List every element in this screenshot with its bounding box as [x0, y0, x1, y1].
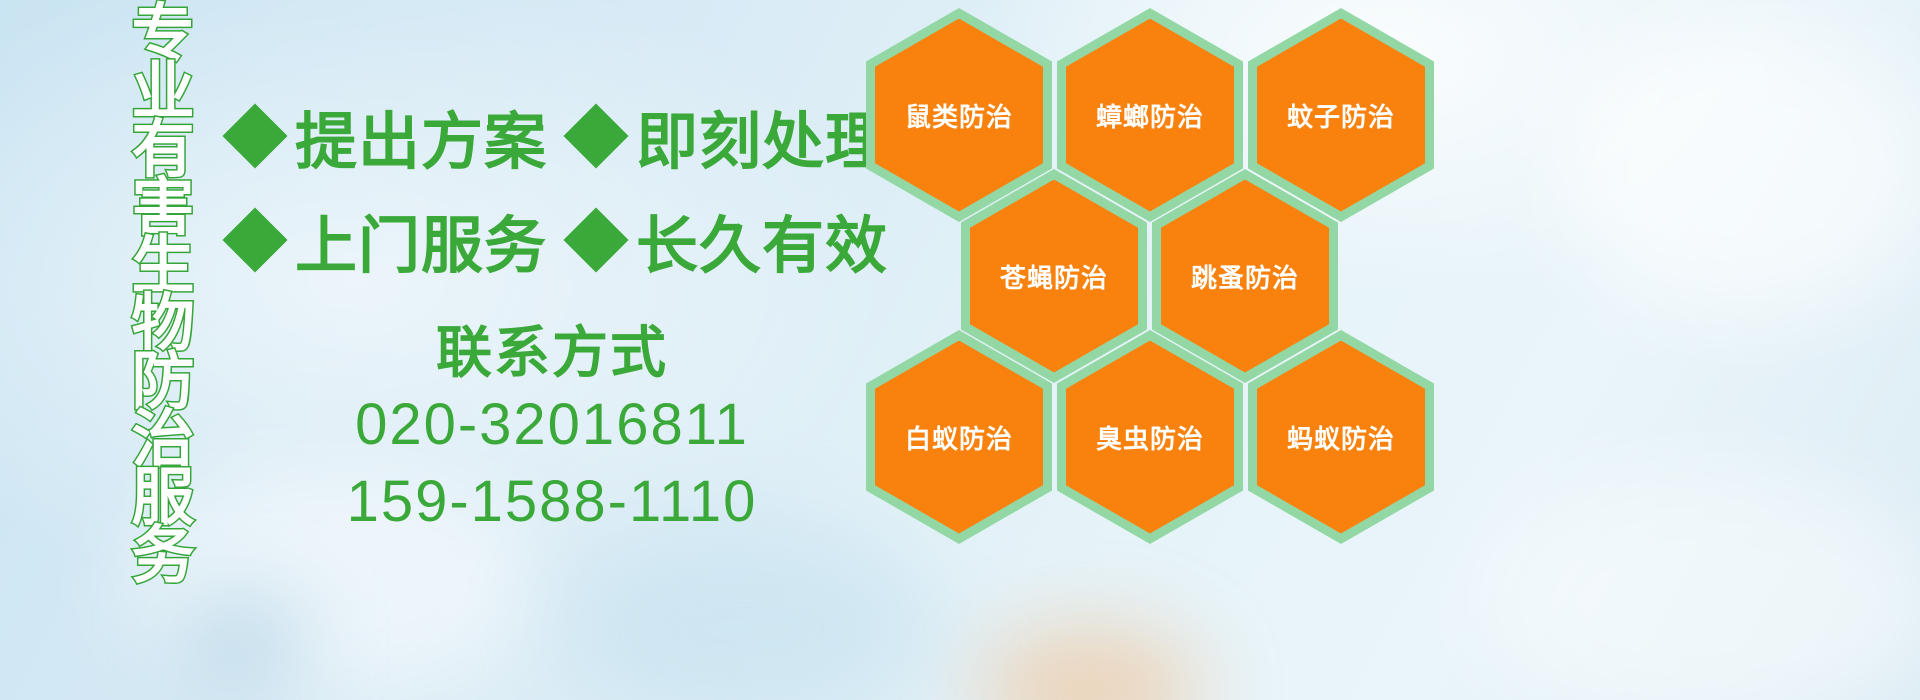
vertical-headline-char: 有 — [132, 122, 195, 180]
vertical-headline-char: 治 — [132, 412, 195, 470]
service-hex-inner: 跳蚤防治 — [1161, 180, 1329, 373]
contact-phone-landline[interactable]: 020-32016811 — [232, 386, 872, 463]
feature-item: 提出方案 — [232, 91, 547, 181]
vertical-headline-char: 业 — [132, 64, 195, 122]
diamond-bullet-icon — [563, 207, 628, 272]
service-hex-label: 蚊子防治 — [1287, 97, 1395, 134]
vertical-headline-char: 防 — [132, 354, 195, 412]
feature-item: 长久有效 — [573, 195, 888, 285]
service-hex-inner: 苍蝇防治 — [970, 180, 1138, 373]
vertical-headline-char: 专 — [132, 6, 195, 64]
feature-item: 即刻处理 — [573, 91, 888, 181]
feature-label: 即刻处理 — [636, 91, 888, 181]
service-hex-label: 苍蝇防治 — [1000, 258, 1108, 295]
service-hex-label: 跳蚤防治 — [1191, 258, 1299, 295]
service-hex-inner: 白蚁防治 — [875, 341, 1043, 534]
service-honeycomb: 鼠类防治 蟑螂防治 蚊子防治 苍蝇防治 跳蚤防治 白蚁防 — [860, 0, 1460, 560]
feature-label: 上门服务 — [295, 195, 547, 285]
service-hex-label: 蚂蚁防治 — [1287, 419, 1395, 456]
vertical-headline-char: 生 — [132, 238, 195, 296]
vertical-headline-char: 服 — [132, 470, 195, 528]
background-orange-haze — [980, 630, 1200, 700]
background-speck-left — [180, 600, 300, 690]
feature-list: 提出方案 即刻处理 上门服务 长久有效 — [232, 84, 872, 292]
diamond-bullet-icon — [222, 207, 287, 272]
service-hex-inner: 鼠类防治 — [875, 19, 1043, 212]
background-glow-top-right — [1560, 20, 1920, 320]
vertical-headline-char: 物 — [132, 296, 195, 354]
contact-block: 联系方式 020-32016811 159-1588-1110 — [232, 320, 872, 540]
contact-title: 联系方式 — [232, 320, 872, 386]
vertical-headline: 专 业 有 害 生 物 防 治 服 务 — [108, 6, 218, 566]
feature-label: 长久有效 — [636, 195, 888, 285]
contact-phone-mobile[interactable]: 159-1588-1110 — [232, 463, 872, 540]
feature-row: 上门服务 长久有效 — [232, 188, 872, 292]
service-hex-inner: 蚊子防治 — [1257, 19, 1425, 212]
background-glow-bottom-right — [1480, 470, 1920, 700]
service-hex-label: 鼠类防治 — [905, 97, 1013, 134]
pest-control-banner: 专 业 有 害 生 物 防 治 服 务 提出方案 即刻处理 上门服务 — [0, 0, 1920, 700]
feature-label: 提出方案 — [295, 91, 547, 181]
service-hex-inner: 蚂蚁防治 — [1257, 341, 1425, 534]
service-hex-label: 白蚁防治 — [905, 419, 1013, 456]
feature-item: 上门服务 — [232, 195, 547, 285]
diamond-bullet-icon — [563, 103, 628, 168]
service-hex-inner: 臭虫防治 — [1066, 341, 1234, 534]
feature-row: 提出方案 即刻处理 — [232, 84, 872, 188]
diamond-bullet-icon — [222, 103, 287, 168]
vertical-headline-char: 害 — [132, 180, 195, 238]
service-hex-label: 臭虫防治 — [1096, 419, 1204, 456]
service-hex-label: 蟑螂防治 — [1096, 97, 1204, 134]
service-hex-inner: 蟑螂防治 — [1066, 19, 1234, 212]
vertical-headline-char: 务 — [132, 528, 195, 586]
